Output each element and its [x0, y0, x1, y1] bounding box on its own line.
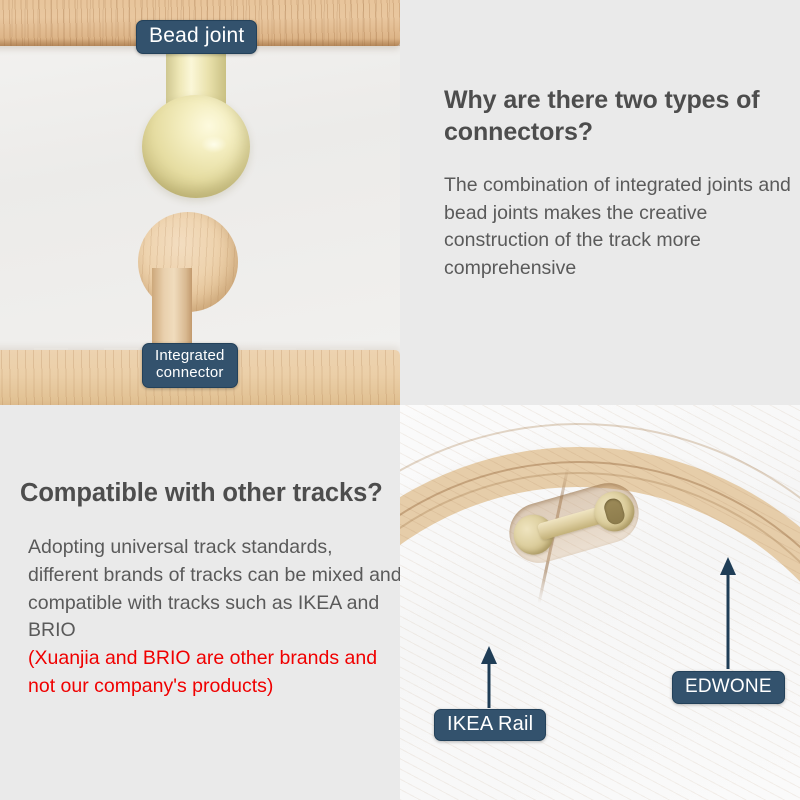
warning-other-brands: (Xuanjia and BRIO are other brands and n… — [28, 645, 400, 700]
bead-joint-ball — [142, 95, 250, 198]
body-compatibility: Adopting universal track standards, diff… — [16, 534, 400, 700]
arrow-shaft — [488, 658, 491, 708]
label-integrated-connector: Integrated connector — [142, 343, 238, 388]
bottom-left-text-block: Compatible with other tracks? Adopting u… — [16, 477, 400, 700]
heading-compatible-with-other-tracks: Compatible with other tracks? — [16, 477, 400, 509]
panel-bead-joint-photo: Bead joint Integrated connector — [0, 0, 400, 405]
integrated-connector-neck — [152, 268, 192, 346]
body-why-two-types: The combination of integrated joints and… — [444, 172, 792, 283]
label-edwone: EDWONE — [672, 671, 785, 704]
panel-why-two-types: Why are there two types of connectors? T… — [400, 0, 800, 405]
body-compatibility-text: Adopting universal track standards, diff… — [28, 536, 400, 641]
label-ikea-rail: IKEA Rail — [434, 709, 546, 741]
infographic-page: Bead joint Integrated connector Why are … — [0, 0, 800, 800]
arrow-up-ikea-rail — [480, 646, 498, 708]
label-bead-joint: Bead joint — [136, 20, 257, 54]
arrow-shaft — [727, 569, 730, 669]
heading-why-two-types: Why are there two types of connectors? — [444, 85, 792, 148]
panel-compatibility: Compatible with other tracks? Adopting u… — [0, 405, 400, 800]
top-right-text-block: Why are there two types of connectors? T… — [444, 85, 792, 283]
arrow-up-edwone — [719, 557, 737, 669]
